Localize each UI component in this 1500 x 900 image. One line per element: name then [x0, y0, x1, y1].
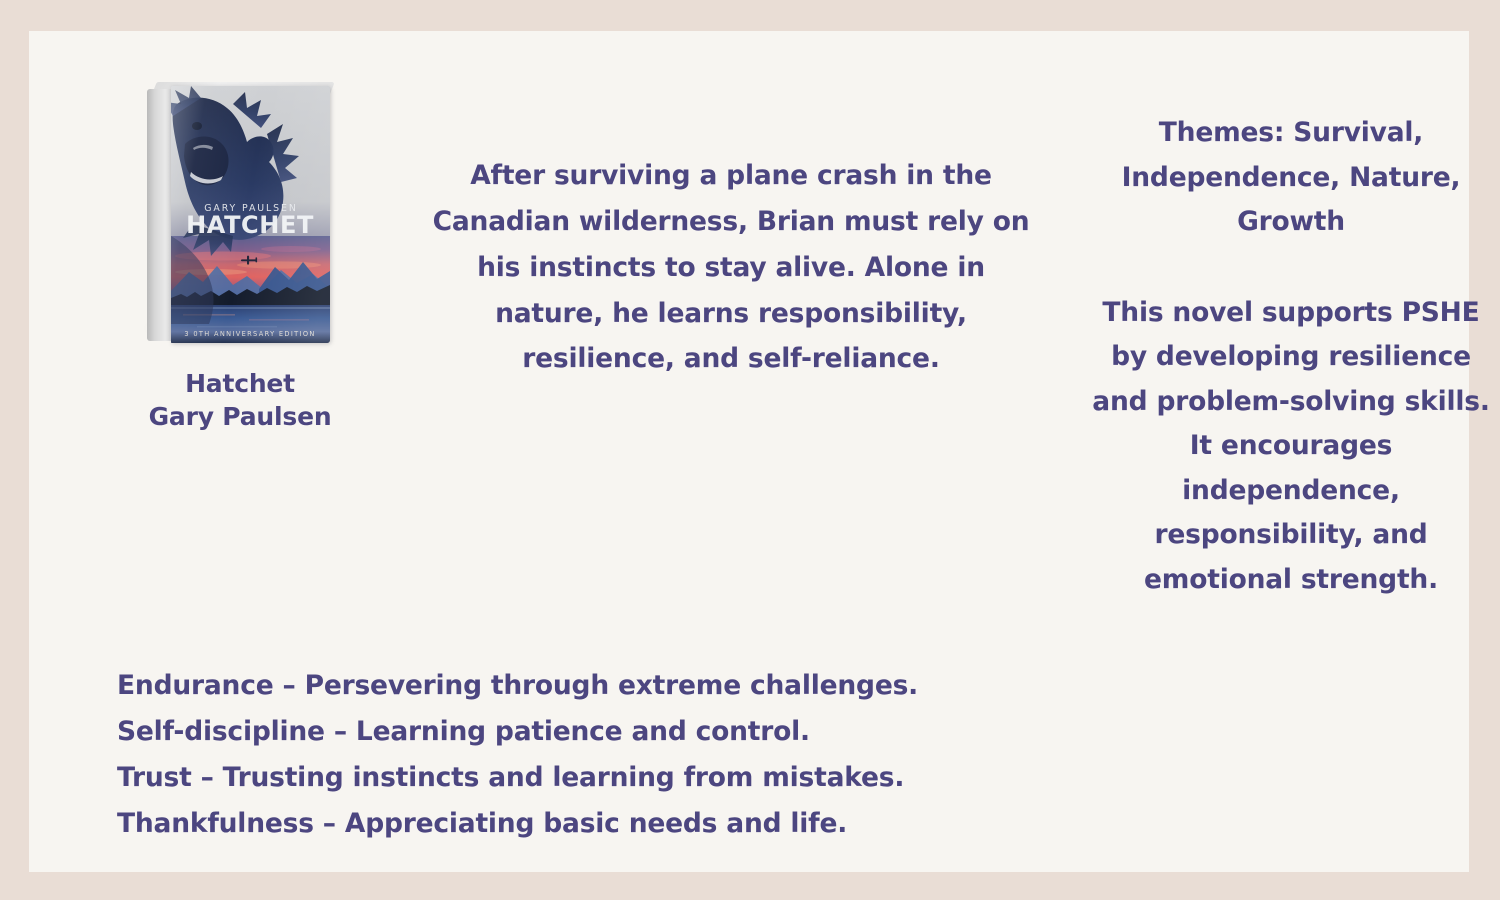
- values-list: Endurance – Persevering through extreme …: [117, 663, 1017, 847]
- pshe-text: This novel supports PSHE by developing r…: [1089, 291, 1493, 603]
- list-item: Trust – Trusting instincts and learning …: [117, 755, 1017, 801]
- book-author: Gary Paulsen: [105, 400, 375, 433]
- cover-title-text: HATCHET: [186, 211, 314, 239]
- hatchet-cover-artwork: GARY PAULSEN HATCHET 3 0TH ANNIVERSARY E…: [171, 86, 330, 343]
- book-title: Hatchet: [105, 367, 375, 400]
- cover-banner-text: 3 0TH ANNIVERSARY EDITION: [184, 330, 315, 338]
- content-panel: GARY PAULSEN HATCHET 3 0TH ANNIVERSARY E…: [29, 31, 1469, 872]
- book-front-cover: GARY PAULSEN HATCHET 3 0TH ANNIVERSARY E…: [171, 86, 330, 343]
- list-item: Endurance – Persevering through extreme …: [117, 663, 1017, 709]
- themes-text: Themes: Survival, Independence, Nature, …: [1089, 111, 1493, 245]
- right-column: Themes: Survival, Independence, Nature, …: [1089, 111, 1493, 602]
- book-block: GARY PAULSEN HATCHET 3 0TH ANNIVERSARY E…: [105, 79, 375, 433]
- book-cover-image: GARY PAULSEN HATCHET 3 0TH ANNIVERSARY E…: [140, 79, 340, 351]
- list-item: Thankfulness – Appreciating basic needs …: [117, 801, 1017, 847]
- list-item: Self-discipline – Learning patience and …: [117, 709, 1017, 755]
- book-spine: [147, 89, 173, 341]
- book-caption: Hatchet Gary Paulsen: [105, 367, 375, 433]
- book-summary-text: After surviving a plane crash in the Can…: [421, 153, 1041, 382]
- poster-page: GARY PAULSEN HATCHET 3 0TH ANNIVERSARY E…: [0, 0, 1500, 900]
